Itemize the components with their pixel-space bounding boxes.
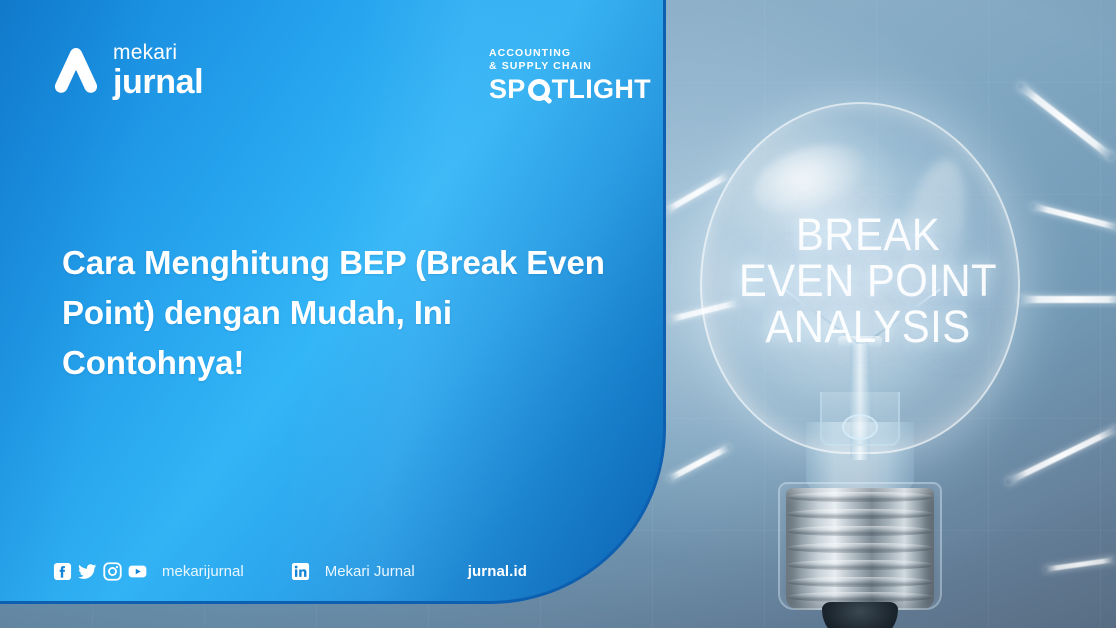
website-text[interactable]: jurnal.id (468, 563, 527, 580)
spotlight-line-1: ACCOUNTING (489, 47, 651, 60)
instagram-icon[interactable] (103, 562, 122, 581)
logo-text-mekari: mekari (113, 42, 203, 63)
spotlight-wordmark: SP TLIGHT (489, 76, 651, 103)
twitter-icon[interactable] (78, 562, 97, 581)
spotlight-text-after: TLIGHT (552, 76, 651, 103)
bulb-text-line-1: BREAK (732, 212, 1004, 258)
facebook-icon[interactable] (53, 562, 72, 581)
youtube-icon[interactable] (128, 562, 147, 581)
linkedin-name-text: Mekari Jurnal (325, 563, 415, 580)
footer-social-bar: mekarijurnal Mekari Jurnal jurnal.id (53, 562, 527, 581)
spotlight-text-before: SP (489, 76, 526, 103)
mekari-jurnal-logo[interactable]: mekari jurnal (53, 42, 203, 99)
logo-text-jurnal: jurnal (113, 65, 203, 99)
linkedin-group[interactable]: Mekari Jurnal (291, 562, 415, 581)
logo-wordmark: mekari jurnal (113, 42, 203, 99)
bulb-text-line-2: EVEN POINT (732, 258, 1004, 304)
social-handle-text: mekarijurnal (162, 563, 244, 580)
mekari-arrow-logo-icon (53, 45, 99, 97)
bulb-text-line-3: ANALYSIS (732, 304, 1004, 350)
spotlight-circle-icon (527, 78, 551, 102)
spotlight-line-2: & SUPPLY CHAIN (489, 60, 651, 73)
bulb-overlay-text: BREAK EVEN POINT ANALYSIS (732, 212, 1004, 350)
spotlight-badge: ACCOUNTING & SUPPLY CHAIN SP TLIGHT (489, 47, 651, 103)
linkedin-icon[interactable] (291, 562, 310, 581)
page-title: Cara Menghitung BEP (Break Even Point) d… (62, 238, 622, 388)
